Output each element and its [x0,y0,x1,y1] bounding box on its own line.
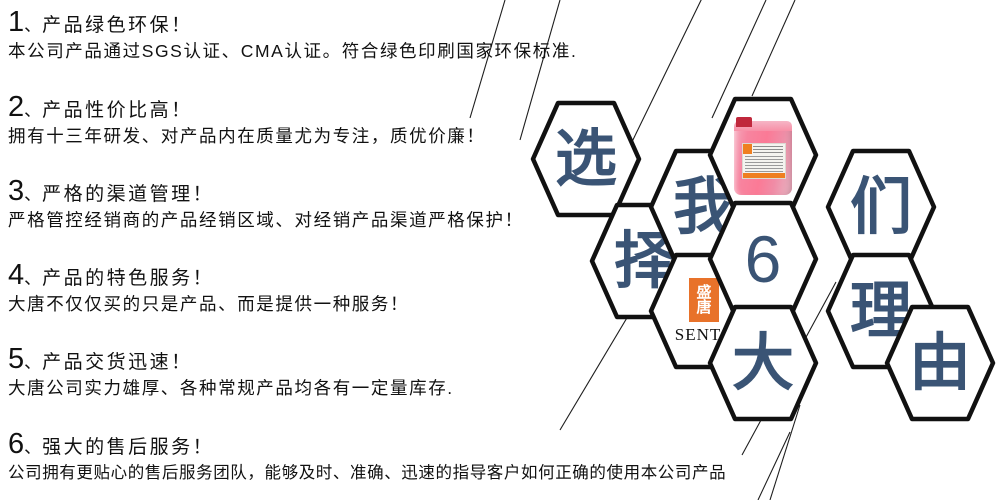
hexagon-label: 选 [530,100,642,218]
jug-label-text [745,156,783,172]
jug-label-title [753,146,783,153]
hexagon-label: 们 [825,148,937,266]
jug-label-footer [743,173,785,178]
hexagon-da: 大 [707,304,819,422]
jug-label-logo [743,144,752,154]
hexagon-cluster: 选 择 我 盛 唐 SENTA [0,0,1000,500]
jug-cap [736,117,752,127]
hexagon-label: 由 [884,304,996,422]
hexagon-you: 由 [884,304,996,422]
jug-label [742,143,786,179]
hexagon-xuan: 选 [530,100,642,218]
hexagon-label: 大 [707,304,819,422]
hexagon-product [707,96,819,214]
poster-canvas: 1 、 产品绿色环保！ 本公司产品通过SGS认证、CMA认证。符合绿色印刷国家环… [0,0,1000,500]
hexagon-label: 6 [707,200,819,318]
hexagon-men: 们 [825,148,937,266]
hexagon-six: 6 [707,200,819,318]
product-image [707,96,819,214]
chemical-jug-icon [732,115,794,195]
